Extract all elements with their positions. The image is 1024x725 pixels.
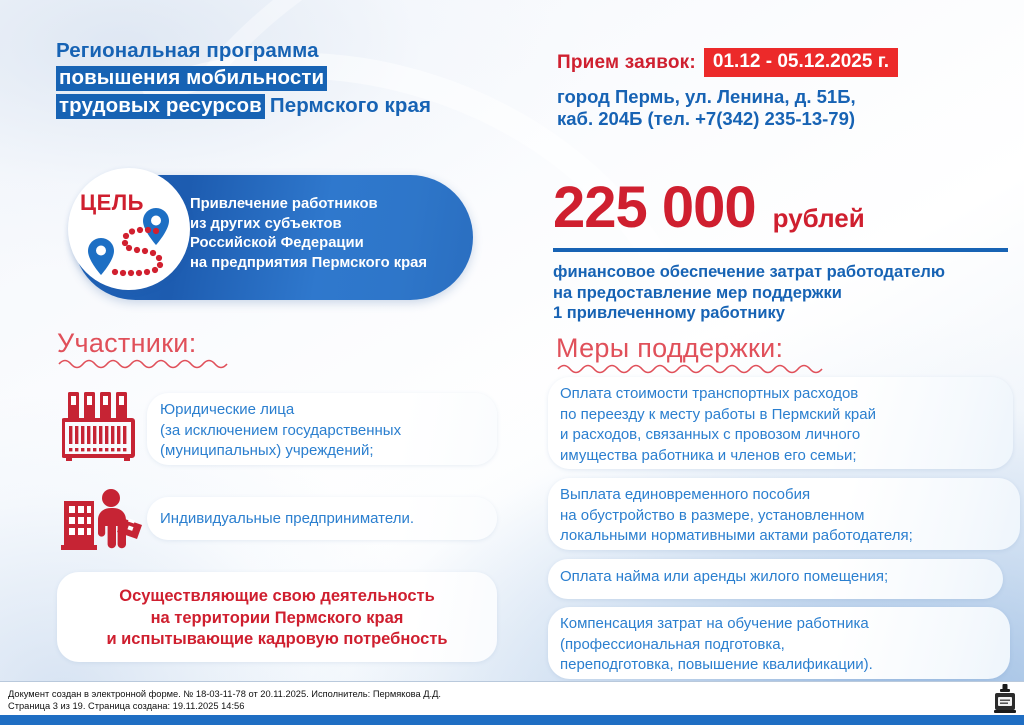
document-footer: Документ создан в электронной форме. № 1… [0,681,1024,725]
footer-line-2: Страница 3 из 19. Страница создана: 19.1… [8,700,441,712]
measure-text-training-compensation: Компенсация затрат на обучение работника… [560,614,873,676]
factory-icon [62,390,138,462]
measure-1-line-2: по переезду к месту работы в Пермский кр… [560,405,876,426]
intake-row: Прием заявок: 01.12 - 05.12.2025 г. [557,48,898,77]
infographic-page: Региональная программа повышения мобильн… [0,0,1024,725]
amount-description-line-1: финансовое обеспечение затрат работодате… [553,262,1008,283]
title-line-2: повышения мобильности [56,65,431,91]
person-with-briefcase [98,489,142,548]
amount-description-line-3: 1 привлеченному работнику [553,303,1008,324]
goal-text-line-2: из других субъектов [190,215,427,235]
measures-heading: Меры поддержки: [556,333,836,375]
footer-blue-strip [0,715,1024,725]
page-title: Региональная программа повышения мобильн… [56,38,431,119]
participant-text-entrepreneurs: Индивидуальные предприниматели. [160,509,414,530]
intake-dates-badge: 01.12 - 05.12.2025 г. [704,48,898,77]
amount-value: 225 000 [553,178,756,238]
measure-4-line-1: Компенсация затрат на обучение работника [560,614,873,635]
goal-text-line-3: Российской Федерации [190,234,427,254]
title-line-3-plain: Пермского края [265,94,431,117]
intake-label: Прием заявок: [557,52,696,74]
goal-text-line-1: Привлечение работников [190,195,427,215]
participant-1-line-1: Юридические лица [160,400,401,421]
participant-1-line-3: (муниципальных) учреждений; [160,441,401,462]
wavy-underline-icon [556,361,836,375]
footer-line-1: Документ создан в электронной форме. № 1… [8,688,441,700]
wavy-underline-icon [57,356,237,370]
participant-text-legal-entities: Юридические лица (за исключением государ… [160,400,401,462]
location-pin-icon-left [88,238,114,275]
activity-line-1: Осуществляющие свою деятельность [57,586,497,608]
measure-3-line-1: Оплата найма или аренды жилого помещения… [560,567,888,588]
funding-amount-block: 225 000 рублей финансовое обеспечение за… [553,178,1008,324]
measure-2-line-1: Выплата единовременного пособия [560,485,913,506]
amount-divider [553,248,1008,252]
measures-heading-text: Меры поддержки: [556,333,836,363]
participants-heading: Участники: [57,328,237,370]
intake-address: город Пермь, ул. Ленина, д. 51Б, каб. 20… [557,86,898,130]
location-pin-icon-right [143,208,169,245]
activity-line-3: и испытывающие кадровую потребность [57,629,497,651]
measure-4-line-3: переподготовка, повышение квалификации). [560,655,873,676]
participant-2-line-1: Индивидуальные предприниматели. [160,509,414,530]
intake-address-line-2: каб. 204Б (тел. +7(342) 235-13-79) [557,108,898,130]
title-line-1: Региональная программа [56,38,431,63]
entrepreneur-icon [60,487,146,551]
title-line-2-highlight: повышения мобильности [56,66,327,91]
activity-line-2: на территории Пермского края [57,608,497,630]
measure-text-settlement-allowance: Выплата единовременного пособия на обуст… [560,485,913,547]
measure-2-line-3: локальными нормативными актами работодат… [560,526,913,547]
intake-address-line-1: город Пермь, ул. Ленина, д. 51Б, [557,86,898,108]
footer-metadata-text: Документ создан в электронной форме. № 1… [8,688,441,712]
title-line-3-highlight: трудовых ресурсов [56,94,265,119]
goal-text-line-4: на предприятия Пермского края [190,254,427,274]
amount-currency: рублей [773,203,865,234]
measure-text-transport: Оплата стоимости транспортных расходов п… [560,384,876,466]
measure-4-line-2: (профессиональная подготовка, [560,635,873,656]
amount-description: финансовое обеспечение затрат работодате… [553,262,1008,324]
amount-row: 225 000 рублей [553,178,1008,238]
participants-heading-text: Участники: [57,328,237,358]
goal-text: Привлечение работников из других субъект… [190,195,427,273]
application-intake-block: Прием заявок: 01.12 - 05.12.2025 г. горо… [557,48,898,130]
measure-text-housing-rent: Оплата найма или аренды жилого помещения… [560,567,888,588]
participant-1-line-2: (за исключением государственных [160,421,401,442]
seal-stamp-icon [994,684,1016,714]
route-map-icon [68,168,190,290]
title-line-3: трудовых ресурсовПермского края [56,93,431,119]
measure-1-line-3: и расходов, связанных с провозом личного [560,425,876,446]
activity-requirement-text: Осуществляющие свою деятельность на терр… [57,586,497,651]
measure-1-line-4: имущества работника и членов его семьи; [560,446,876,467]
measure-2-line-2: на обустройство в размере, установленном [560,506,913,527]
amount-description-line-2: на предоставление мер поддержки [553,283,1008,304]
measure-1-line-1: Оплата стоимости транспортных расходов [560,384,876,405]
